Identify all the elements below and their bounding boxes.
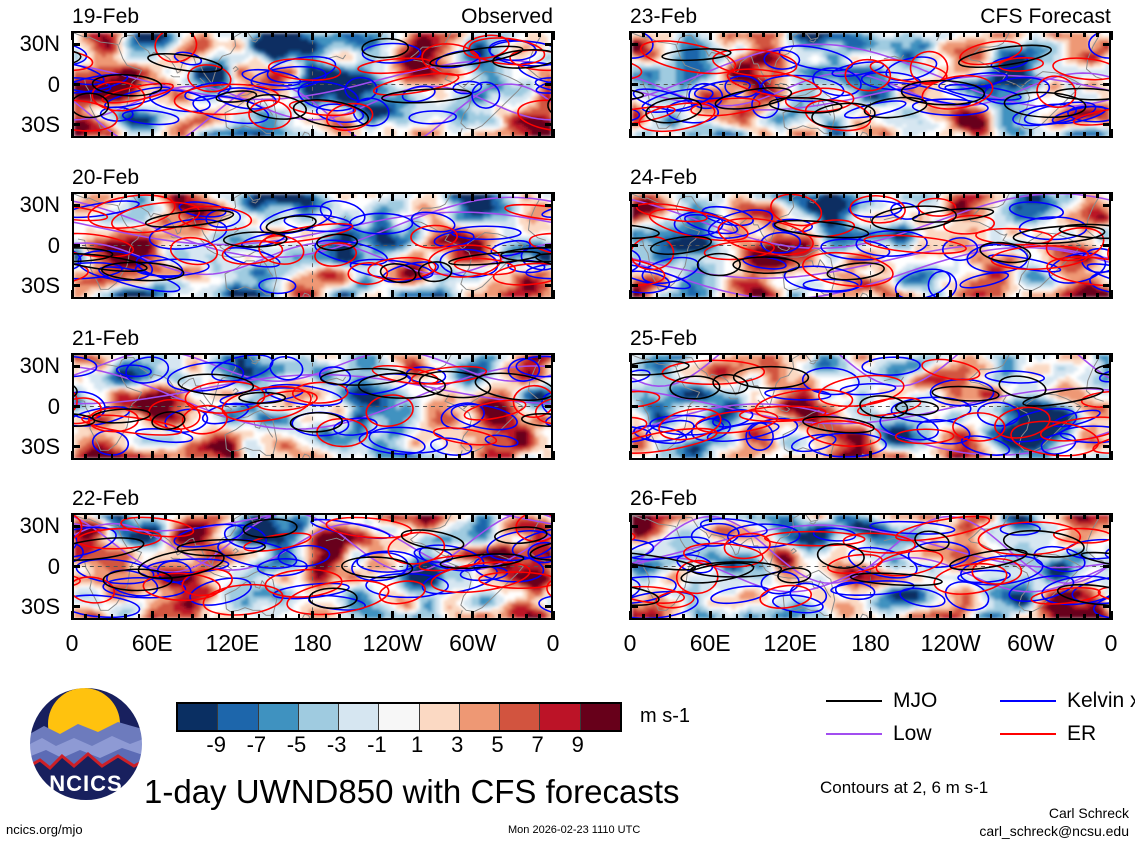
- x-axis-tick: [629, 129, 632, 138]
- x-axis-tick: [949, 129, 952, 138]
- x-axis-tick: [285, 293, 288, 299]
- x-axis-tick: [111, 192, 114, 198]
- legend-item: MJO: [826, 690, 937, 711]
- x-axis-tick: [976, 614, 979, 620]
- colorbar-swatch: [459, 704, 499, 730]
- x-axis-tick: [909, 132, 912, 138]
- x-axis-tick: [378, 614, 381, 620]
- x-axis-tick: [405, 132, 408, 138]
- x-axis-tick: [829, 513, 832, 519]
- x-axis-tick: [244, 614, 247, 620]
- x-axis-tick: [458, 614, 461, 620]
- x-axis-tick: [936, 192, 939, 198]
- x-axis-tick: [138, 31, 141, 37]
- y-axis-tick: [72, 83, 80, 86]
- x-axis-tick: [391, 129, 394, 138]
- x-axis-tick: [629, 31, 632, 40]
- x-axis-tick: [709, 451, 712, 460]
- x-axis-tick: [84, 31, 87, 37]
- x-axis-tick: [1003, 513, 1006, 519]
- x-axis-tick: [458, 132, 461, 138]
- x-axis-tick: [378, 293, 381, 299]
- y-axis-tick: [545, 123, 553, 126]
- x-axis-tick: [749, 454, 752, 460]
- x-axis-tick: [498, 293, 501, 299]
- x-axis-tick: [682, 31, 685, 37]
- x-axis-tick: [856, 454, 859, 460]
- x-axis-tick: [829, 293, 832, 299]
- x-axis-tick: [71, 290, 74, 299]
- x-axis-tick: [883, 513, 886, 519]
- y-axis-label: 30S: [0, 596, 60, 618]
- x-axis-tick: [722, 132, 725, 138]
- x-axis-tick: [405, 513, 408, 519]
- x-axis-tick: [1110, 129, 1113, 138]
- x-axis-tick: [298, 513, 301, 519]
- x-axis-tick: [923, 132, 926, 138]
- x-axis-tick: [909, 293, 912, 299]
- x-axis-tick: [325, 614, 328, 620]
- x-axis-tick: [485, 31, 488, 37]
- legend-line-swatch: [1000, 700, 1056, 702]
- x-axis-tick: [258, 31, 261, 37]
- map-plot-area: [630, 31, 1111, 138]
- x-axis-tick: [458, 293, 461, 299]
- x-axis-tick: [1096, 31, 1099, 37]
- x-axis-tick: [351, 353, 354, 359]
- y-axis-tick: [545, 445, 553, 448]
- x-axis-tick: [338, 293, 341, 299]
- x-axis-tick: [1083, 513, 1086, 519]
- y-axis-tick: [545, 365, 553, 368]
- x-axis-tick: [829, 353, 832, 359]
- x-axis-tick: [789, 192, 792, 201]
- x-axis-tick: [432, 513, 435, 519]
- x-axis-tick: [656, 132, 659, 138]
- x-axis-tick: [909, 31, 912, 37]
- x-axis-tick: [656, 192, 659, 198]
- x-axis-tick: [749, 513, 752, 519]
- x-axis-tick: [164, 454, 167, 460]
- x-axis-tick: [325, 513, 328, 519]
- x-axis-tick: [856, 31, 859, 37]
- x-axis-tick: [471, 513, 474, 522]
- x-axis-tick: [244, 293, 247, 299]
- x-axis-tick: [298, 614, 301, 620]
- x-axis-tick: [325, 353, 328, 359]
- y-axis-label: 0: [0, 74, 60, 96]
- y-axis-tick: [545, 525, 553, 528]
- x-axis-tick: [244, 31, 247, 37]
- x-axis-tick: [391, 353, 394, 362]
- x-axis-tick: [552, 290, 555, 299]
- x-axis-tick: [869, 290, 872, 299]
- x-axis-tick: [869, 611, 872, 620]
- x-axis-tick: [378, 513, 381, 519]
- x-axis-tick: [909, 513, 912, 519]
- x-axis-tick: [736, 614, 739, 620]
- x-axis-tick: [776, 614, 779, 620]
- x-axis-tick: [218, 614, 221, 620]
- x-axis-tick: [669, 293, 672, 299]
- x-axis-tick: [709, 31, 712, 40]
- x-axis-tick: [552, 451, 555, 460]
- x-axis-tick: [776, 192, 779, 198]
- x-axis-tick: [883, 192, 886, 198]
- x-axis-tick: [231, 31, 234, 40]
- x-axis-tick: [883, 614, 886, 620]
- x-axis-tick: [178, 132, 181, 138]
- x-axis-tick: [138, 353, 141, 359]
- x-axis-tick: [84, 513, 87, 519]
- x-axis-tick: [909, 192, 912, 198]
- x-axis-tick: [485, 614, 488, 620]
- x-axis-tick: [98, 192, 101, 198]
- x-axis-tick: [432, 454, 435, 460]
- x-axis-tick: [963, 454, 966, 460]
- x-axis-tick: [963, 31, 966, 37]
- x-axis-tick: [258, 192, 261, 198]
- x-axis-tick: [512, 614, 515, 620]
- x-axis-tick: [669, 192, 672, 198]
- x-axis-tick: [311, 129, 314, 138]
- y-axis-label: 30N: [0, 33, 60, 55]
- x-axis-tick: [669, 353, 672, 359]
- y-axis-tick: [630, 365, 638, 368]
- x-axis-tick: [682, 454, 685, 460]
- x-axis-tick: [178, 192, 181, 198]
- x-axis-tick: [1043, 614, 1046, 620]
- x-axis-tick: [405, 353, 408, 359]
- colorbar-swatch: [298, 704, 338, 730]
- x-axis-tick: [485, 353, 488, 359]
- x-axis-tick: [896, 192, 899, 198]
- x-axis-tick: [976, 31, 979, 37]
- x-axis-tick: [538, 614, 541, 620]
- x-axis-tick: [538, 513, 541, 519]
- x-axis-tick: [990, 614, 993, 620]
- x-axis-tick: [231, 129, 234, 138]
- x-axis-tick: [1096, 132, 1099, 138]
- x-axis-tick: [512, 454, 515, 460]
- x-axis-tick: [471, 129, 474, 138]
- x-axis-tick: [1056, 353, 1059, 359]
- x-axis-tick: [151, 31, 154, 40]
- x-axis-tick: [432, 31, 435, 37]
- x-axis-tick: [1056, 454, 1059, 460]
- y-axis-tick: [1103, 565, 1111, 568]
- x-axis-tick: [722, 293, 725, 299]
- x-axis-tick: [138, 614, 141, 620]
- y-axis-tick: [1103, 83, 1111, 86]
- map-plot-area: [72, 513, 553, 620]
- x-axis-tick: [552, 353, 555, 362]
- x-axis-tick: [1056, 513, 1059, 519]
- x-axis-tick: [990, 293, 993, 299]
- y-axis-tick: [72, 365, 80, 368]
- x-axis-tick: [178, 31, 181, 37]
- y-axis-label: 30S: [0, 114, 60, 136]
- x-axis-tick: [525, 513, 528, 519]
- y-axis-tick: [630, 525, 638, 528]
- x-axis-tick: [816, 132, 819, 138]
- x-axis-tick: [164, 31, 167, 37]
- x-axis-tick: [178, 513, 181, 519]
- x-axis-tick: [151, 290, 154, 299]
- x-axis-tick: [298, 293, 301, 299]
- x-axis-tick: [856, 614, 859, 620]
- x-axis-tick: [976, 293, 979, 299]
- y-axis-label: 30S: [0, 275, 60, 297]
- x-axis-tick: [1043, 293, 1046, 299]
- x-axis-tick: [418, 454, 421, 460]
- x-axis-tick: [883, 31, 886, 37]
- x-axis-tick: [976, 454, 979, 460]
- x-axis-tick: [1096, 293, 1099, 299]
- x-axis-tick: [351, 513, 354, 519]
- x-axis-tick: [1083, 31, 1086, 37]
- x-axis-tick: [869, 192, 872, 201]
- legend-label: ER: [1067, 723, 1096, 744]
- y-axis-label: 0: [0, 556, 60, 578]
- ncics-logo: NCICS: [26, 684, 146, 804]
- x-axis-tick: [963, 353, 966, 359]
- x-axis-tick: [1096, 454, 1099, 460]
- x-axis-tick: [1016, 192, 1019, 198]
- x-axis-tick: [1056, 614, 1059, 620]
- x-axis-tick: [471, 451, 474, 460]
- x-axis-tick: [1096, 192, 1099, 198]
- x-axis-tick: [98, 31, 101, 37]
- x-axis-tick: [963, 132, 966, 138]
- x-axis-tick: [418, 132, 421, 138]
- x-axis-tick: [1070, 353, 1073, 359]
- x-axis-tick: [856, 353, 859, 359]
- x-axis-tick: [896, 614, 899, 620]
- legend-item: Kelvin x2: [1000, 690, 1135, 711]
- x-axis-tick: [311, 290, 314, 299]
- y-axis-tick: [630, 605, 638, 608]
- x-axis-tick: [776, 454, 779, 460]
- y-axis-tick: [1103, 123, 1111, 126]
- x-axis-tick: [298, 132, 301, 138]
- x-axis-tick: [405, 614, 408, 620]
- map-plot-area: [72, 192, 553, 299]
- x-axis-tick: [656, 454, 659, 460]
- x-axis-tick: [151, 353, 154, 362]
- x-axis-tick: [231, 353, 234, 362]
- x-axis-tick: [843, 31, 846, 37]
- x-axis-tick: [111, 454, 114, 460]
- x-axis-tick: [98, 132, 101, 138]
- y-axis-tick: [72, 123, 80, 126]
- x-axis-tick: [923, 513, 926, 519]
- x-axis-tick: [896, 31, 899, 37]
- y-axis-tick: [630, 565, 638, 568]
- x-axis-tick: [656, 513, 659, 519]
- x-axis-tick: [458, 513, 461, 519]
- x-axis-tick: [391, 31, 394, 40]
- x-axis-tick: [124, 614, 127, 620]
- x-axis-tick: [1056, 293, 1059, 299]
- x-axis-tick: [963, 192, 966, 198]
- x-axis-tick: [669, 614, 672, 620]
- x-axis-tick: [191, 293, 194, 299]
- x-axis-tick: [1110, 290, 1113, 299]
- x-axis-tick: [285, 31, 288, 37]
- x-axis-tick: [485, 132, 488, 138]
- x-axis-tick: [231, 611, 234, 620]
- x-axis-tick: [258, 513, 261, 519]
- x-axis-tick: [1016, 614, 1019, 620]
- y-axis-tick: [630, 83, 638, 86]
- x-axis-tick: [843, 513, 846, 519]
- x-axis-tick: [458, 454, 461, 460]
- y-axis-tick: [72, 405, 80, 408]
- column-header-label: CFS Forecast: [980, 6, 1111, 27]
- x-axis-tick: [1070, 454, 1073, 460]
- x-axis-tick: [231, 451, 234, 460]
- legend-label: Low: [893, 723, 932, 744]
- x-axis-tick: [84, 454, 87, 460]
- x-axis-tick: [191, 31, 194, 37]
- x-axis-tick: [151, 451, 154, 460]
- x-axis-tick: [485, 513, 488, 519]
- x-axis-tick: [1110, 451, 1113, 460]
- x-axis-tick: [204, 31, 207, 37]
- x-axis-tick: [843, 293, 846, 299]
- x-axis-tick: [709, 129, 712, 138]
- x-axis-tick: [642, 31, 645, 37]
- x-axis-tick: [1083, 614, 1086, 620]
- x-axis-tick: [976, 353, 979, 359]
- x-axis-tick: [709, 290, 712, 299]
- x-axis-tick: [231, 513, 234, 522]
- x-axis-tick: [258, 454, 261, 460]
- x-axis-tick: [365, 31, 368, 37]
- x-axis-tick: [244, 454, 247, 460]
- x-axis-tick: [709, 192, 712, 201]
- x-axis-tick: [856, 192, 859, 198]
- x-axis-tick: [164, 192, 167, 198]
- x-axis-tick: [485, 293, 488, 299]
- x-axis-tick: [485, 454, 488, 460]
- x-axis-tick: [191, 614, 194, 620]
- legend-line-swatch: [1000, 733, 1056, 735]
- x-axis-tick: [949, 353, 952, 362]
- panel-date-label: 26-Feb: [630, 488, 697, 509]
- x-axis-tick: [285, 454, 288, 460]
- x-axis-tick: [258, 353, 261, 359]
- x-axis-tick: [696, 192, 699, 198]
- x-axis-tick: [378, 454, 381, 460]
- x-axis-tick: [338, 513, 341, 519]
- x-axis-tick: [776, 353, 779, 359]
- x-axis-tick: [365, 293, 368, 299]
- x-axis-tick: [111, 31, 114, 37]
- x-axis-tick: [936, 353, 939, 359]
- x-axis-tick: [923, 31, 926, 37]
- x-axis-tick: [231, 290, 234, 299]
- x-axis-tick: [789, 611, 792, 620]
- x-axis-tick: [802, 454, 805, 460]
- x-axis-tick: [325, 31, 328, 37]
- x-axis-tick: [71, 192, 74, 201]
- x-axis-tick: [432, 353, 435, 359]
- x-axis-tick: [1110, 353, 1113, 362]
- x-axis-tick: [1096, 353, 1099, 359]
- x-axis-tick: [1096, 614, 1099, 620]
- x-axis-tick: [829, 31, 832, 37]
- x-axis-tick: [1029, 31, 1032, 40]
- x-axis-tick: [696, 31, 699, 37]
- x-axis-tick: [124, 293, 127, 299]
- x-axis-tick: [1070, 614, 1073, 620]
- x-axis-tick: [976, 513, 979, 519]
- x-axis-tick: [498, 31, 501, 37]
- x-axis-tick: [642, 293, 645, 299]
- x-axis-tick: [682, 614, 685, 620]
- x-axis-tick: [1096, 513, 1099, 519]
- x-axis-tick: [498, 192, 501, 198]
- x-axis-tick: [151, 513, 154, 522]
- x-axis-tick: [285, 353, 288, 359]
- x-axis-tick: [204, 353, 207, 359]
- x-axis-tick: [285, 132, 288, 138]
- y-axis-label: 30N: [0, 355, 60, 377]
- x-axis-tick: [669, 454, 672, 460]
- x-axis-tick: [258, 293, 261, 299]
- x-axis-tick: [111, 513, 114, 519]
- x-axis-tick: [538, 192, 541, 198]
- y-axis-tick: [1103, 605, 1111, 608]
- x-axis-tick: [722, 353, 725, 359]
- x-axis-tick: [909, 353, 912, 359]
- x-axis-tick: [325, 293, 328, 299]
- x-axis-tick: [351, 293, 354, 299]
- x-axis-tick: [1043, 513, 1046, 519]
- x-axis-tick: [71, 451, 74, 460]
- x-axis-tick: [936, 293, 939, 299]
- x-axis-tick: [896, 132, 899, 138]
- author-email[interactable]: carl_schreck@ncsu.edu: [979, 824, 1129, 838]
- colorbar-swatch: [580, 704, 620, 730]
- contour-note: Contours at 2, 6 m s-1: [820, 779, 988, 796]
- y-axis-label: 0: [0, 235, 60, 257]
- author-name: Carl Schreck: [1049, 806, 1129, 820]
- x-axis-tick: [445, 293, 448, 299]
- x-axis-tick: [896, 454, 899, 460]
- x-axis-tick: [829, 192, 832, 198]
- x-axis-tick: [418, 614, 421, 620]
- x-axis-tick: [338, 353, 341, 359]
- x-axis-tick: [338, 614, 341, 620]
- x-axis-tick: [936, 132, 939, 138]
- x-axis-tick: [432, 293, 435, 299]
- panel-date-label: 21-Feb: [72, 328, 139, 349]
- x-axis-tick: [816, 614, 819, 620]
- x-axis-tick: [432, 614, 435, 620]
- x-axis-tick: [909, 454, 912, 460]
- x-axis-tick: [696, 132, 699, 138]
- x-axis-tick: [418, 192, 421, 198]
- x-axis-tick: [244, 192, 247, 198]
- x-axis-tick: [949, 290, 952, 299]
- x-axis-tick: [538, 31, 541, 37]
- column-header-label: Observed: [461, 6, 553, 27]
- x-axis-tick: [1016, 293, 1019, 299]
- site-url[interactable]: ncics.org/mjo: [6, 823, 83, 836]
